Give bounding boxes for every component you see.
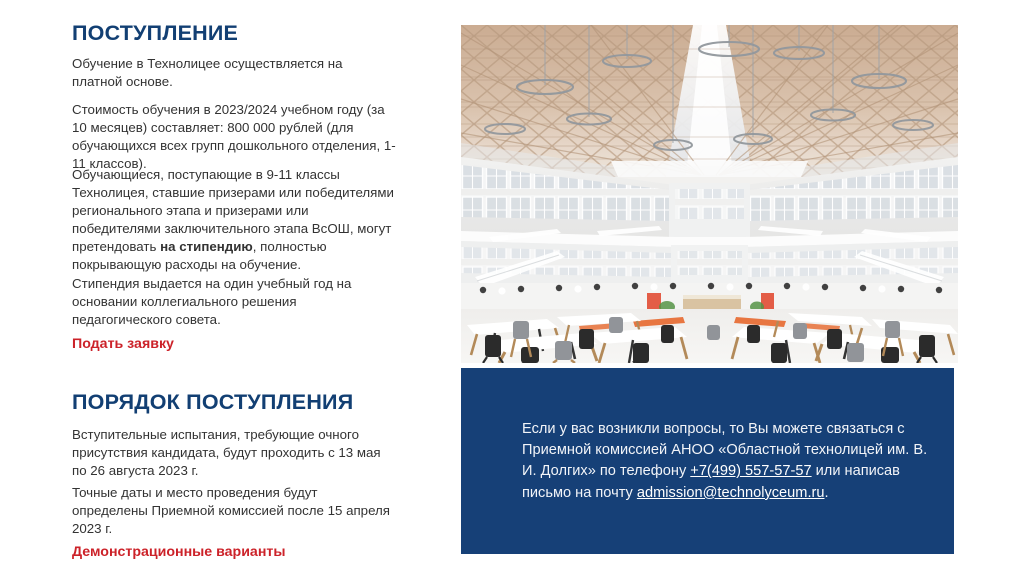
page-root: ПОСТУПЛЕНИЕ Обучение в Технолицее осущес… [0, 0, 1024, 581]
paragraph-tuition-paid: Обучение в Технолицее осуществляется на … [72, 55, 396, 91]
phone-link[interactable]: +7(499) 557-57-57 [690, 463, 811, 479]
contact-text: Если у вас возникли вопросы, то Вы может… [522, 419, 942, 505]
contact-info-panel: Если у вас возникли вопросы, то Вы может… [461, 368, 954, 554]
paragraph-entrance-exams: Вступительные испытания, требующие очног… [72, 426, 396, 480]
email-link[interactable]: admission@technolyceum.ru [637, 485, 825, 501]
demo-variants-link[interactable]: Демонстрационные варианты [72, 544, 285, 560]
paragraph-scholarship-term: Стипендия выдается на один учебный год н… [72, 275, 396, 329]
paragraph-scholarship: Обучающиеся, поступающие в 9-11 классы Т… [72, 166, 396, 275]
paragraph-exact-dates: Точные даты и место проведения будут опр… [72, 484, 396, 538]
page-title-admission: ПОСТУПЛЕНИЕ [72, 22, 238, 46]
page-title-admission-order: ПОРЯДОК ПОСТУПЛЕНИЯ [72, 391, 353, 415]
contact-text-part-3: . [824, 485, 828, 501]
paragraph-scholarship-bold: на стипендию [160, 239, 253, 254]
apply-link[interactable]: Подать заявку [72, 336, 174, 352]
lyceum-atrium-photo [461, 25, 958, 363]
left-content-column: ПОСТУПЛЕНИЕ Обучение в Технолицее осущес… [72, 0, 402, 581]
atrium-illustration [461, 25, 958, 363]
paragraph-tuition-cost: Стоимость обучения в 2023/2024 учебном г… [72, 101, 396, 173]
